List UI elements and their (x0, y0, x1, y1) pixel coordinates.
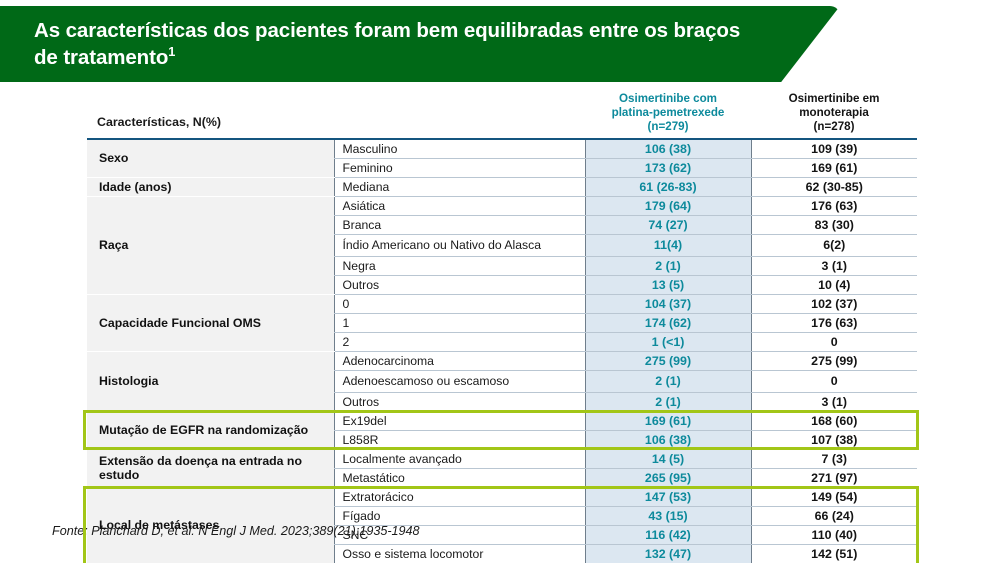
slide-root: As características dos pacientes foram b… (0, 0, 1000, 563)
row-sub-label: Extratorácico (334, 487, 585, 506)
cell-arm1: 147 (53) (585, 487, 751, 506)
cell-arm1: 132 (47) (585, 544, 751, 563)
characteristics-table: Características, N(%) Osimertinibe com p… (87, 90, 917, 563)
row-sub-label: Negra (334, 256, 585, 275)
row-sub-label: Metastático (334, 468, 585, 487)
column-header-subgroup (334, 90, 585, 139)
column-header-characteristics: Características, N(%) (87, 90, 334, 139)
row-sub-label: Fígado (334, 506, 585, 525)
row-sub-label: Adenoescamoso ou escamoso (334, 370, 585, 392)
column-header-arm2-line3: (n=278) (755, 120, 913, 134)
cell-arm1: 2 (1) (585, 370, 751, 392)
cell-arm2: 110 (40) (751, 525, 917, 544)
cell-arm2: 3 (1) (751, 256, 917, 275)
column-header-arm2-line1: Osimertinibe em (755, 92, 913, 106)
cell-arm1: 14 (5) (585, 449, 751, 468)
cell-arm1: 2 (1) (585, 256, 751, 275)
cell-arm2: 3 (1) (751, 392, 917, 411)
cell-arm1: 265 (95) (585, 468, 751, 487)
cell-arm1: 74 (27) (585, 215, 751, 234)
source-footnote: Fonte: Planchard D, et al. N Engl J Med.… (52, 524, 420, 538)
row-sub-label: Osso e sistema locomotor (334, 544, 585, 563)
table-header: Características, N(%) Osimertinibe com p… (87, 90, 917, 139)
cell-arm1: 275 (99) (585, 351, 751, 370)
row-sub-label: Adenocarcinoma (334, 351, 585, 370)
row-sub-label: Feminino (334, 158, 585, 177)
cell-arm2: 109 (39) (751, 139, 917, 158)
cell-arm1: 2 (1) (585, 392, 751, 411)
table-row: Capacidade Funcional OMS0104 (37)102 (37… (87, 294, 917, 313)
cell-arm2: 6(2) (751, 234, 917, 256)
table-row: Local de metástasesExtratorácico147 (53)… (87, 487, 917, 506)
table-row: SexoMasculino106 (38)109 (39) (87, 139, 917, 158)
cell-arm2: 0 (751, 370, 917, 392)
column-header-arm2-line2: monoterapia (755, 106, 913, 120)
row-sub-label: Branca (334, 215, 585, 234)
cell-arm2: 102 (37) (751, 294, 917, 313)
table-row: HistologiaAdenocarcinoma275 (99)275 (99) (87, 351, 917, 370)
cell-arm1: 106 (38) (585, 430, 751, 449)
row-group-label: Extensão da doença na entrada no estudo (87, 449, 334, 487)
cell-arm2: 83 (30) (751, 215, 917, 234)
row-sub-label: Masculino (334, 139, 585, 158)
cell-arm1: 104 (37) (585, 294, 751, 313)
table-row: Extensão da doença na entrada no estudoL… (87, 449, 917, 468)
table-body: SexoMasculino106 (38)109 (39)Feminino173… (87, 139, 917, 563)
column-header-arm2: Osimertinibe em monoterapia (n=278) (751, 90, 917, 139)
row-sub-label: L858R (334, 430, 585, 449)
cell-arm2: 7 (3) (751, 449, 917, 468)
column-header-arm1-line1: Osimertinibe com (589, 92, 747, 106)
row-group-label: Raça (87, 196, 334, 294)
cell-arm1: 13 (5) (585, 275, 751, 294)
cell-arm2: 149 (54) (751, 487, 917, 506)
cell-arm2: 107 (38) (751, 430, 917, 449)
row-sub-label: Mediana (334, 177, 585, 196)
column-header-arm1-line3: (n=279) (589, 120, 747, 134)
row-sub-label: Outros (334, 275, 585, 294)
row-sub-label: Asiática (334, 196, 585, 215)
cell-arm2: 66 (24) (751, 506, 917, 525)
cell-arm2: 142 (51) (751, 544, 917, 563)
cell-arm1: 1 (<1) (585, 332, 751, 351)
column-header-arm1-line2: platina-pemetrexede (589, 106, 747, 120)
row-group-label: Histologia (87, 351, 334, 411)
table-row: RaçaAsiática179 (64)176 (63) (87, 196, 917, 215)
row-group-label: Capacidade Funcional OMS (87, 294, 334, 351)
page-title-footnote-marker: 1 (168, 44, 175, 59)
row-sub-label: 1 (334, 313, 585, 332)
row-sub-label: 0 (334, 294, 585, 313)
table-row: Mutação de EGFR na randomizaçãoEx19del16… (87, 411, 917, 430)
cell-arm1: 173 (62) (585, 158, 751, 177)
cell-arm2: 169 (61) (751, 158, 917, 177)
cell-arm1: 61 (26-83) (585, 177, 751, 196)
cell-arm1: 11(4) (585, 234, 751, 256)
row-group-label: Sexo (87, 139, 334, 177)
page-title-text: As características dos pacientes foram b… (34, 19, 740, 69)
cell-arm2: 10 (4) (751, 275, 917, 294)
cell-arm1: 116 (42) (585, 525, 751, 544)
cell-arm1: 174 (62) (585, 313, 751, 332)
row-sub-label: 2 (334, 332, 585, 351)
row-sub-label: Índio Americano ou Nativo do Alasca (334, 234, 585, 256)
row-sub-label: Outros (334, 392, 585, 411)
cell-arm2: 176 (63) (751, 313, 917, 332)
table-row: Idade (anos)Mediana61 (26-83)62 (30-85) (87, 177, 917, 196)
row-group-label: Idade (anos) (87, 177, 334, 196)
row-sub-label: Ex19del (334, 411, 585, 430)
cell-arm2: 62 (30-85) (751, 177, 917, 196)
column-header-arm1: Osimertinibe com platina-pemetrexede (n=… (585, 90, 751, 139)
title-banner: As características dos pacientes foram b… (0, 6, 840, 82)
row-sub-label: Localmente avançado (334, 449, 585, 468)
page-title: As características dos pacientes foram b… (0, 17, 840, 71)
cell-arm2: 0 (751, 332, 917, 351)
cell-arm1: 43 (15) (585, 506, 751, 525)
row-group-label: Mutação de EGFR na randomização (87, 411, 334, 449)
cell-arm1: 106 (38) (585, 139, 751, 158)
characteristics-table-wrap: Características, N(%) Osimertinibe com p… (87, 90, 917, 563)
cell-arm2: 271 (97) (751, 468, 917, 487)
cell-arm2: 176 (63) (751, 196, 917, 215)
cell-arm1: 169 (61) (585, 411, 751, 430)
cell-arm2: 168 (60) (751, 411, 917, 430)
table-header-row: Características, N(%) Osimertinibe com p… (87, 90, 917, 139)
cell-arm2: 275 (99) (751, 351, 917, 370)
cell-arm1: 179 (64) (585, 196, 751, 215)
